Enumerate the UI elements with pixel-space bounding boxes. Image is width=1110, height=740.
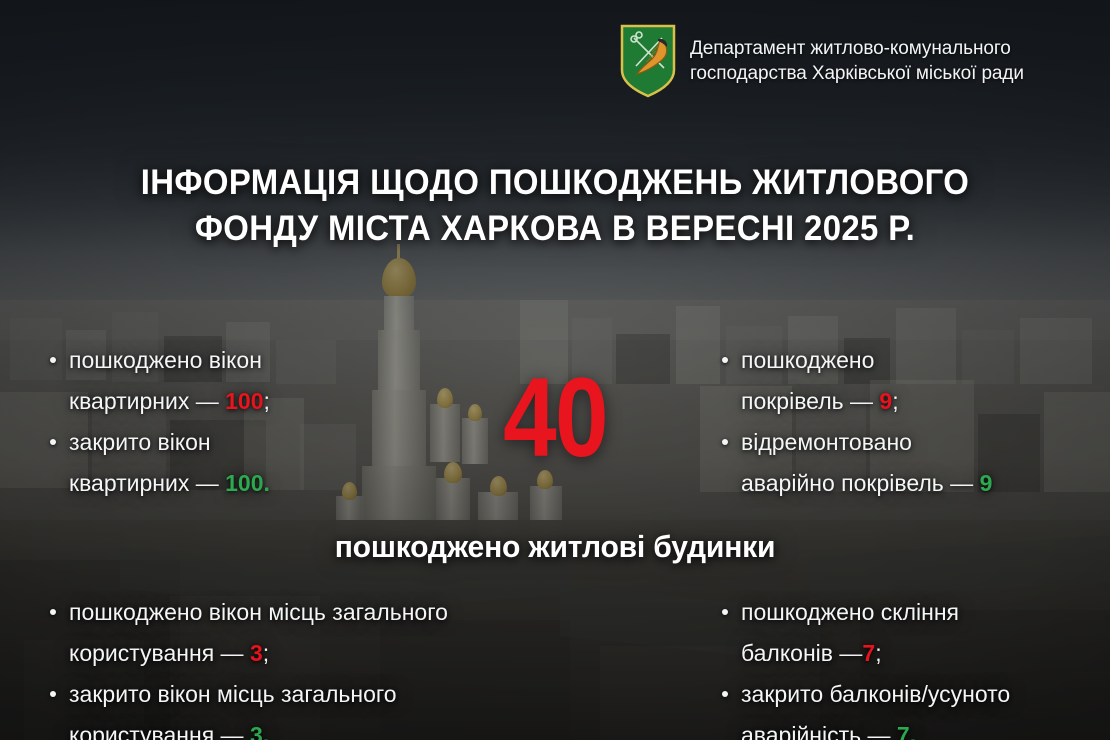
stat-label-line-1: закрито вікон місць загального — [69, 681, 397, 707]
stat-value: 100 — [225, 388, 263, 414]
stat-value: 7 — [862, 640, 875, 666]
title-line-2: ФОНДУ МІСТА ХАРКОВА В ВЕРЕСНІ 2025 Р. — [33, 206, 1076, 252]
stat-value: 3 — [250, 640, 263, 666]
stat-label-line-2: аварійність — — [741, 722, 891, 740]
list-item: пошкоджено вікон місць загального корист… — [47, 592, 567, 674]
department-line-2: господарства Харківської міської ради — [690, 61, 1024, 86]
stat-label-line-2: користування — — [69, 640, 244, 666]
stats-column-right-top: пошкоджено покрівель — 9; відремонтовано… — [719, 340, 1091, 504]
stat-value: 9 — [980, 470, 993, 496]
stat-label-line-1: пошкоджено скління — [741, 599, 959, 625]
stats-column-right-bottom: пошкоджено скління балконів —7; закрито … — [719, 592, 1099, 740]
stat-punctuation: . — [263, 722, 269, 740]
stat-punctuation: ; — [892, 388, 898, 414]
list-item: закрито вікон місць загального користува… — [47, 674, 567, 740]
stat-punctuation: ; — [875, 640, 881, 666]
kharkiv-coat-of-arms-icon — [620, 24, 676, 98]
page-title: ІНФОРМАЦІЯ ЩОДО ПОШКОДЖЕНЬ ЖИТЛОВОГО ФОН… — [33, 160, 1076, 251]
stats-column-left-top: пошкоджено вікон квартирних — 100; закри… — [47, 340, 447, 504]
section-subtitle: пошкоджено житлові будинки — [17, 528, 1094, 565]
stat-label-line-2: квартирних — — [69, 470, 219, 496]
stat-label-line-2: користування — — [69, 722, 244, 740]
department-header: Департамент житлово-комунального господа… — [620, 24, 1024, 98]
stat-label-line-2: аварійно покрівель — — [741, 470, 973, 496]
stat-value: 9 — [879, 388, 892, 414]
poster-content: Департамент житлово-комунального господа… — [0, 0, 1110, 740]
stat-value: 3 — [250, 722, 263, 740]
stat-list-roofs: пошкоджено покрівель — 9; відремонтовано… — [719, 340, 1091, 504]
department-name: Департамент житлово-комунального господа… — [690, 36, 1024, 87]
stat-label-line-1: пошкоджено вікон місць загального — [69, 599, 448, 625]
stats-column-left-bottom: пошкоджено вікон місць загального корист… — [47, 592, 567, 740]
stat-punctuation: . — [263, 470, 269, 496]
stat-value: 100 — [225, 470, 263, 496]
stat-punctuation: ; — [263, 388, 269, 414]
list-item: закрито балконів/усуното аварійність — 7… — [719, 674, 1099, 740]
list-item: пошкоджено покрівель — 9; — [719, 340, 1091, 422]
list-item: закрито вікон квартирних — 100. — [47, 422, 447, 504]
stat-label-line-1: закрито балконів/усуното — [741, 681, 1010, 707]
list-item: пошкоджено вікон квартирних — 100; — [47, 340, 447, 422]
title-line-1: ІНФОРМАЦІЯ ЩОДО ПОШКОДЖЕНЬ ЖИТЛОВОГО — [33, 160, 1076, 206]
stat-list-apartment-windows: пошкоджено вікон квартирних — 100; закри… — [47, 340, 447, 504]
stat-label-line-1: пошкоджено вікон — [69, 347, 262, 373]
list-item: пошкоджено скління балконів —7; — [719, 592, 1099, 674]
stat-list-common-area-windows: пошкоджено вікон місць загального корист… — [47, 592, 567, 740]
stat-label-line-1: пошкоджено — [741, 347, 874, 373]
stat-punctuation: ; — [263, 640, 269, 666]
stat-label-line-1: закрито вікон — [69, 429, 211, 455]
stat-label-line-2: покрівель — — [741, 388, 873, 414]
stat-list-balconies: пошкоджено скління балконів —7; закрито … — [719, 592, 1099, 740]
stat-label-line-1: відремонтовано — [741, 429, 912, 455]
stat-label-line-2: балконів — — [741, 640, 862, 666]
stat-value: 7 — [897, 722, 910, 740]
department-line-1: Департамент житлово-комунального — [690, 36, 1024, 61]
stat-label-line-2: квартирних — — [69, 388, 219, 414]
infographic-poster: Департамент житлово-комунального господа… — [0, 0, 1110, 740]
list-item: відремонтовано аварійно покрівель — 9 — [719, 422, 1091, 504]
stat-punctuation: . — [910, 722, 916, 740]
